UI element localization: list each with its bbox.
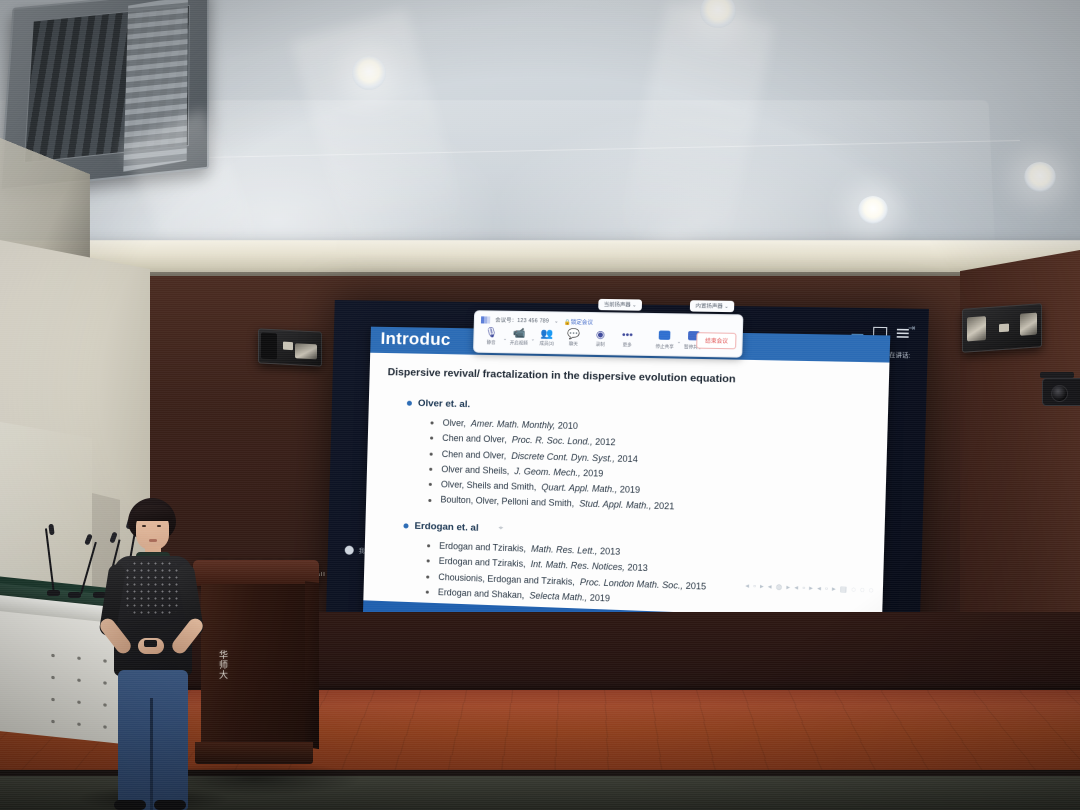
list-item: Boulton, Olver, Pelloni and Smith, Stud.…	[428, 494, 674, 512]
chevron-down-icon[interactable]: ⌄	[554, 318, 559, 324]
presenter-eye	[142, 525, 146, 527]
microphone-base	[47, 590, 60, 596]
menu-icon[interactable]	[897, 328, 909, 338]
speaker-select-left[interactable]: 当前扬声器 ⌄	[598, 299, 642, 311]
ac-vent-louvers	[123, 0, 188, 172]
presenter-shoe	[114, 800, 146, 810]
wall-speaker-right	[962, 303, 1042, 353]
wall-speaker-left	[258, 328, 322, 366]
reference-list-olver: Olver, Amer. Math. Monthly, 2010 Chen an…	[428, 417, 677, 517]
share-screen-label: 停止共享	[652, 344, 678, 351]
record-icon: ◉	[587, 329, 613, 341]
share-screen-button[interactable]: 停止共享	[652, 329, 679, 350]
expand-panel-icon[interactable]: ⇥	[908, 323, 916, 333]
section-label: Erdogan et. al	[414, 521, 478, 534]
more-label: 更多	[614, 342, 640, 349]
slide-body: Dispersive revival/ fractalization in th…	[363, 353, 889, 620]
microphone-icon: 🎙	[478, 327, 504, 339]
camera-label: 开启视频	[506, 340, 532, 347]
presenter-clicker	[144, 640, 157, 647]
section-label: Olver et. al.	[418, 398, 471, 410]
slide: Introduc Dispersive revival/ fractalizat…	[363, 327, 891, 643]
presenter-shoe	[154, 800, 186, 810]
list-item: Chen and Olver, Proc. R. Soc. Lond., 201…	[430, 433, 676, 449]
cursor-artifact: ⌖	[498, 523, 503, 533]
presenter	[92, 498, 222, 810]
microphone-base	[68, 592, 81, 598]
beamer-navigation-bullets[interactable]: ◂ ▫ ▸ ◂ ◍ ▸ ◂ ▫ ▸ ◂ ▫ ▸ ▤ ◌ ◌ ◌	[745, 582, 874, 595]
signal-strength-icon	[481, 316, 490, 323]
list-item: Olver, Sheils and Smith, Quart. Appl. Ma…	[429, 479, 675, 496]
bullet-icon	[407, 401, 412, 406]
speaker-select-right[interactable]: 内置扬声器 ⌄	[690, 300, 734, 312]
share-screen-icon	[652, 330, 678, 343]
presenter-eye	[157, 525, 161, 527]
mic-label: 静音	[478, 340, 504, 347]
presenter-leg-seam	[150, 698, 153, 810]
meeting-id-label[interactable]: 会议号：123 456 789	[495, 317, 549, 325]
presenter-shirt-pattern	[124, 560, 180, 616]
end-meeting-button[interactable]: 结束会议	[697, 332, 737, 349]
more-icon: •••	[614, 330, 640, 342]
participants-icon: 👥	[534, 328, 560, 340]
ceiling-light	[352, 56, 386, 90]
chat-button[interactable]: 💬 聊天	[560, 328, 586, 348]
slide-heading: Dispersive revival/ fractalization in th…	[388, 367, 736, 385]
participants-label: 成员(3)	[534, 341, 560, 348]
record-label: 录制	[587, 342, 613, 349]
ceiling-light	[1024, 162, 1056, 192]
presenter-mouth	[149, 539, 157, 542]
chat-icon: 💬	[561, 329, 587, 341]
lecture-hall-photo: 我的作品 ‹ ⇥ 🔊 正在讲话: Introduc Dispersive rev…	[0, 0, 1080, 810]
meeting-toolbar[interactable]: 当前扬声器 ⌄ 内置扬声器 ⌄ 会议号：123 456 789 ⌄ 🔒锁定会议 …	[473, 310, 743, 358]
camera-button[interactable]: 📹 开启视频	[506, 327, 532, 347]
slide-title: Introduc	[380, 329, 451, 350]
chat-avatar-icon	[345, 546, 354, 555]
record-button[interactable]: ◉ 录制	[587, 328, 613, 348]
list-item: Olver, Amer. Math. Monthly, 2010	[430, 417, 676, 433]
list-item: Chen and Olver, Discrete Cont. Dyn. Syst…	[430, 448, 676, 465]
presenter-jeans	[118, 670, 188, 810]
camera-icon: 📹	[506, 328, 532, 340]
ceiling-light	[858, 196, 888, 224]
section-olver: Olver et. al.	[407, 398, 471, 411]
lock-meeting-button[interactable]: 🔒锁定会议	[564, 317, 593, 326]
participants-button[interactable]: 👥 成员(3)	[534, 327, 560, 347]
podium-side	[305, 581, 319, 749]
reference-list-erdogan: Erdogan and Tzirakis, Math. Res. Lett., …	[426, 540, 708, 612]
list-item: Olver and Sheils, J. Geom. Mech., 2019	[429, 464, 675, 481]
bullet-icon	[403, 523, 408, 528]
ceiling-camera	[1042, 378, 1080, 406]
more-button[interactable]: ••• 更多	[614, 329, 641, 349]
section-erdogan: Erdogan et. al	[403, 520, 478, 533]
mic-button[interactable]: 🎙 静音	[478, 326, 504, 346]
chat-label: 聊天	[560, 341, 586, 348]
presenter-fringe	[133, 505, 173, 521]
